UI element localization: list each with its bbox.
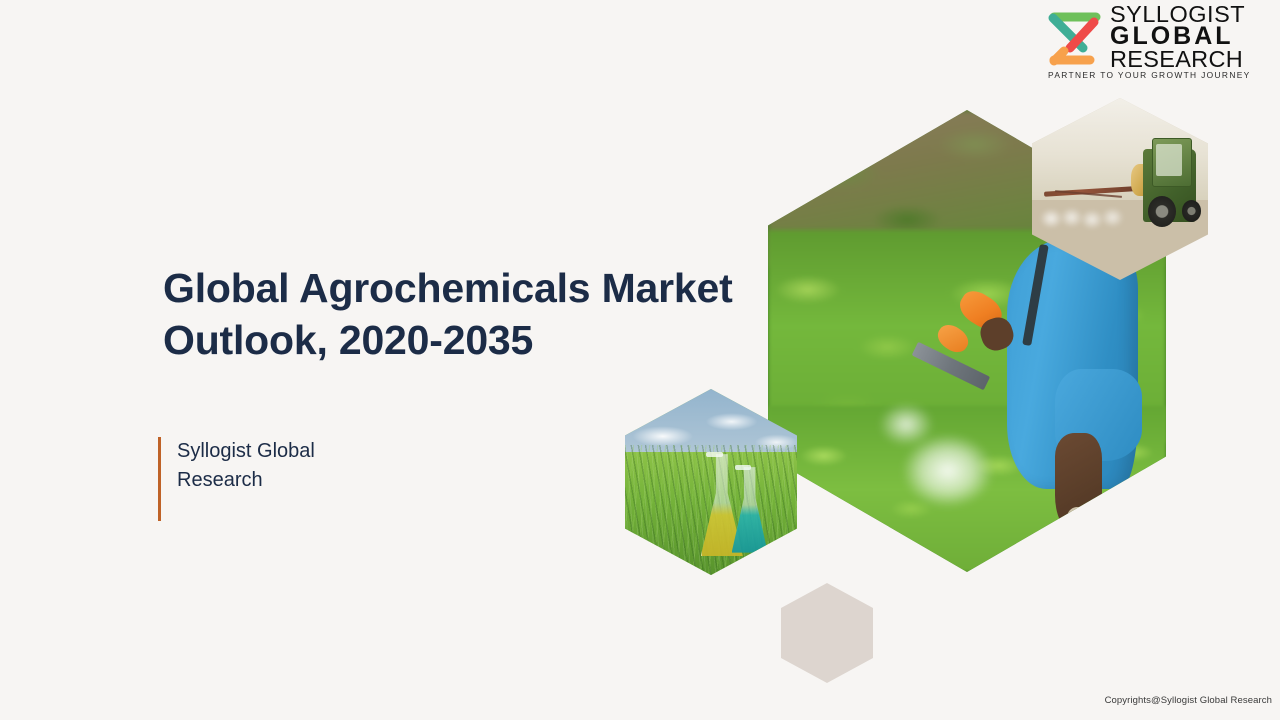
logo-line-global: GLOBAL — [1110, 25, 1270, 48]
subtitle-text: Syllogist Global Research — [177, 437, 387, 495]
subtitle-block: Syllogist Global Research — [158, 437, 387, 521]
farmer-trousers — [1067, 507, 1123, 567]
flask-teal-rim — [735, 465, 750, 469]
logo-line-research: RESEARCH — [1110, 48, 1270, 70]
accent-bar — [158, 437, 161, 521]
page-title: Global Agrochemicals Market Outlook, 202… — [163, 262, 763, 366]
tractor-front-wheel — [1182, 200, 1201, 222]
farmer-arm — [1055, 433, 1103, 530]
tractor-cab-window — [1156, 144, 1182, 177]
syllogist-logo-mark — [1040, 8, 1106, 70]
logo-tagline: PARTNER TO YOUR GROWTH JOURNEY — [1048, 70, 1272, 80]
logo-wordmark: SYLLOGIST GLOBAL RESEARCH — [1110, 4, 1270, 70]
flask-yellow-rim — [706, 452, 723, 457]
company-logo: SYLLOGIST GLOBAL RESEARCH PARTNER TO YOU… — [1036, 4, 1272, 86]
title-slide: SYLLOGIST GLOBAL RESEARCH PARTNER TO YOU… — [0, 0, 1280, 720]
decorative-beige-hexagon — [781, 583, 873, 683]
copyright-notice: Copyrights@Syllogist Global Research — [1105, 695, 1272, 706]
boom-spray-mist — [1039, 193, 1141, 244]
